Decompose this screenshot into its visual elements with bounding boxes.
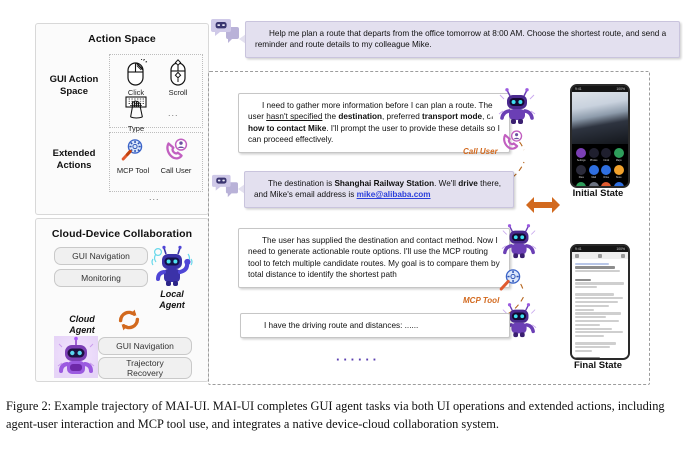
home-app-icon[interactable]: Files [576, 165, 587, 179]
more-menu-icon[interactable] [621, 254, 625, 258]
mcp-tool-action-icon [498, 268, 524, 292]
extended-action-row-label: Extended Actions [40, 148, 108, 172]
status-battery-initial: 100% [616, 87, 625, 91]
extended-label-line1: Extended [53, 148, 96, 159]
action-mcp-tool[interactable]: MCP Tool [111, 135, 155, 175]
action-call-user[interactable]: Call User [154, 135, 198, 175]
tool-result-bubble-tail [490, 322, 497, 332]
user-task-bubble: Help me plan a route that departs from t… [245, 21, 680, 58]
mouse-click-icon [114, 57, 158, 87]
home-app-label: Settings [577, 159, 586, 162]
cloud-agent-avatar [54, 336, 98, 378]
initial-state-caption: Initial State [558, 188, 638, 199]
action-click[interactable]: Click [114, 57, 158, 97]
agent-robot-avatar-1 [497, 88, 537, 126]
mouse-scroll-icon [156, 57, 200, 87]
home-app-label: Mail [592, 176, 596, 179]
home-app-label: Files [579, 176, 584, 179]
assistant-thought-bubble-2: The user has supplied the destination an… [238, 228, 510, 288]
action-space-panel: Action Space GUI Action Space Click [35, 23, 209, 215]
cloud-agent-label: Cloud Agent [58, 314, 106, 336]
tool-result-text: I have the driving route and distances: … [264, 321, 418, 330]
assistant-thought-1-tail [490, 108, 497, 118]
gui-action-row-label: GUI Action Space [40, 74, 108, 98]
home-app-label: Clock [603, 159, 609, 162]
phone-final-state: 9:41 100% [570, 244, 630, 360]
agent-robot-avatar-2 [500, 224, 538, 260]
home-app-icon[interactable]: Settings [576, 148, 587, 162]
home-app-grid[interactable]: Settings Photos Clock Maps Files Mail Dr… [572, 144, 628, 188]
cloud-cap-1-label: GUI Navigation [116, 341, 174, 351]
mail-body-line [575, 286, 597, 288]
back-arrow-icon[interactable] [575, 254, 579, 258]
mail-body-line [575, 301, 618, 303]
local-capability-gui-navigation[interactable]: GUI Navigation [54, 247, 148, 265]
cloud-capability-trajectory-recovery[interactable]: Trajectory Recovery [98, 357, 192, 379]
call-user-action-icon [500, 130, 524, 152]
cloud-capability-gui-navigation[interactable]: GUI Navigation [98, 337, 192, 355]
user-reply-text: The destination is Shanghai Railway Stat… [254, 179, 501, 199]
action-call-user-label: Call User [154, 166, 198, 175]
figure-caption: Figure 2: Example trajectory of MAI-UI. … [6, 398, 677, 433]
tool-result-bubble: I have the driving route and distances: … [240, 313, 510, 338]
user-reply-bubble: The destination is Shanghai Railway Stat… [244, 171, 514, 208]
cloud-agent-label-line2: Agent [69, 325, 95, 335]
home-app-label: Store [616, 176, 622, 179]
refresh-sync-icon [116, 307, 142, 333]
magnifier-gear-icon [111, 135, 155, 165]
local-agent-label-line2: Agent [159, 300, 185, 310]
home-wallpaper [572, 92, 628, 144]
local-agent-label-line1: Local [160, 289, 184, 299]
figure-body: Action Space GUI Action Space Click [0, 0, 683, 392]
action-type[interactable]: Type [114, 93, 158, 133]
bidirectional-arrow-icon [525, 196, 561, 214]
user-avatar-top [211, 17, 239, 45]
local-cap-1-label: GUI Navigation [72, 251, 130, 261]
local-agent-label: Local Agent [148, 289, 196, 311]
assistant-thought-bubble-1: I need to gather more information before… [238, 93, 510, 153]
cloud-cap-2-label-line2: Recovery [127, 368, 163, 378]
keyboard-type-icon [114, 93, 158, 123]
home-app-icon[interactable]: Photos [589, 148, 600, 162]
extended-label-line2: Actions [57, 160, 92, 171]
mail-compose-screen[interactable] [572, 252, 628, 360]
local-capability-monitoring[interactable]: Monitoring [54, 269, 148, 287]
mail-body-line [575, 305, 609, 307]
local-cap-2-label: Monitoring [81, 273, 121, 283]
mail-body-line [575, 346, 610, 348]
assistant-thought-2-tail [490, 250, 497, 260]
home-app-icon[interactable]: Maps [614, 148, 625, 162]
mail-body-line [575, 328, 612, 330]
cloud-cap-2-label-line1: Trajectory [126, 358, 163, 368]
mail-body-line [575, 331, 623, 333]
action-scroll-label: Scroll [156, 88, 200, 97]
mike-email-link[interactable]: mike@alibaba.com [357, 190, 431, 199]
mail-toolbar[interactable] [572, 252, 628, 259]
assistant-thought-1-text: I need to gather more information before… [248, 101, 500, 144]
mail-body-line [575, 320, 619, 322]
home-app-label: Drive [603, 176, 609, 179]
local-agent-avatar [149, 243, 195, 289]
mail-body-line [575, 309, 594, 311]
status-battery-final: 100% [616, 247, 625, 251]
assistant-thought-2-text: The user has supplied the destination an… [248, 236, 500, 279]
home-app-icon[interactable]: Store [614, 165, 625, 179]
action-mcp-tool-label: MCP Tool [111, 166, 155, 175]
mail-body-line [575, 316, 606, 318]
mail-body-line [575, 282, 624, 284]
gui-action-label-line1: GUI Action [50, 74, 99, 85]
mail-body-line [575, 324, 600, 326]
home-app-icon[interactable]: Clock [601, 148, 612, 162]
phone-initial-state: 9:41 100% Settings Photos Clock Maps Fil… [570, 84, 630, 188]
status-time-final: 9:41 [575, 247, 582, 251]
mail-body-line [575, 342, 616, 344]
cloud-agent-label-line1: Cloud [69, 314, 95, 324]
mail-from-row[interactable] [575, 263, 609, 265]
gui-action-more: ... [168, 108, 179, 118]
cloud-device-collaboration-panel: Cloud-Device Collaboration GUI Navigatio… [35, 218, 209, 382]
action-space-title: Action Space [36, 33, 208, 45]
mail-subject-row[interactable] [575, 270, 620, 272]
extended-action-more: ... [149, 192, 160, 202]
mail-body-line [575, 312, 621, 314]
final-state-caption: Final State [558, 360, 638, 371]
action-label-call-user: Call User [463, 147, 498, 156]
phone-user-icon [154, 135, 198, 165]
home-app-label: Photos [590, 159, 597, 162]
gui-action-label-line2: Space [60, 86, 88, 97]
home-app-icon[interactable]: Mail [589, 165, 600, 179]
home-app-label: Maps [616, 159, 622, 162]
status-time-initial: 9:41 [575, 87, 582, 91]
home-app-icon[interactable]: Drive [601, 165, 612, 179]
mail-body-line [575, 279, 591, 281]
action-label-mcp-tool: MCP Tool [463, 296, 499, 305]
mail-body-line [575, 335, 604, 337]
user-task-text: Help me plan a route that departs from t… [255, 29, 666, 49]
continuation-dots: ······ [336, 352, 380, 367]
collaboration-title: Cloud-Device Collaboration [36, 228, 208, 240]
user-avatar-reply [212, 173, 238, 199]
action-scroll[interactable]: Scroll [156, 57, 200, 97]
mail-body-line [575, 350, 592, 352]
mail-to-row[interactable] [575, 266, 615, 268]
attach-icon[interactable] [598, 254, 602, 258]
mail-body-line [575, 297, 623, 299]
mail-body-line [575, 293, 614, 295]
